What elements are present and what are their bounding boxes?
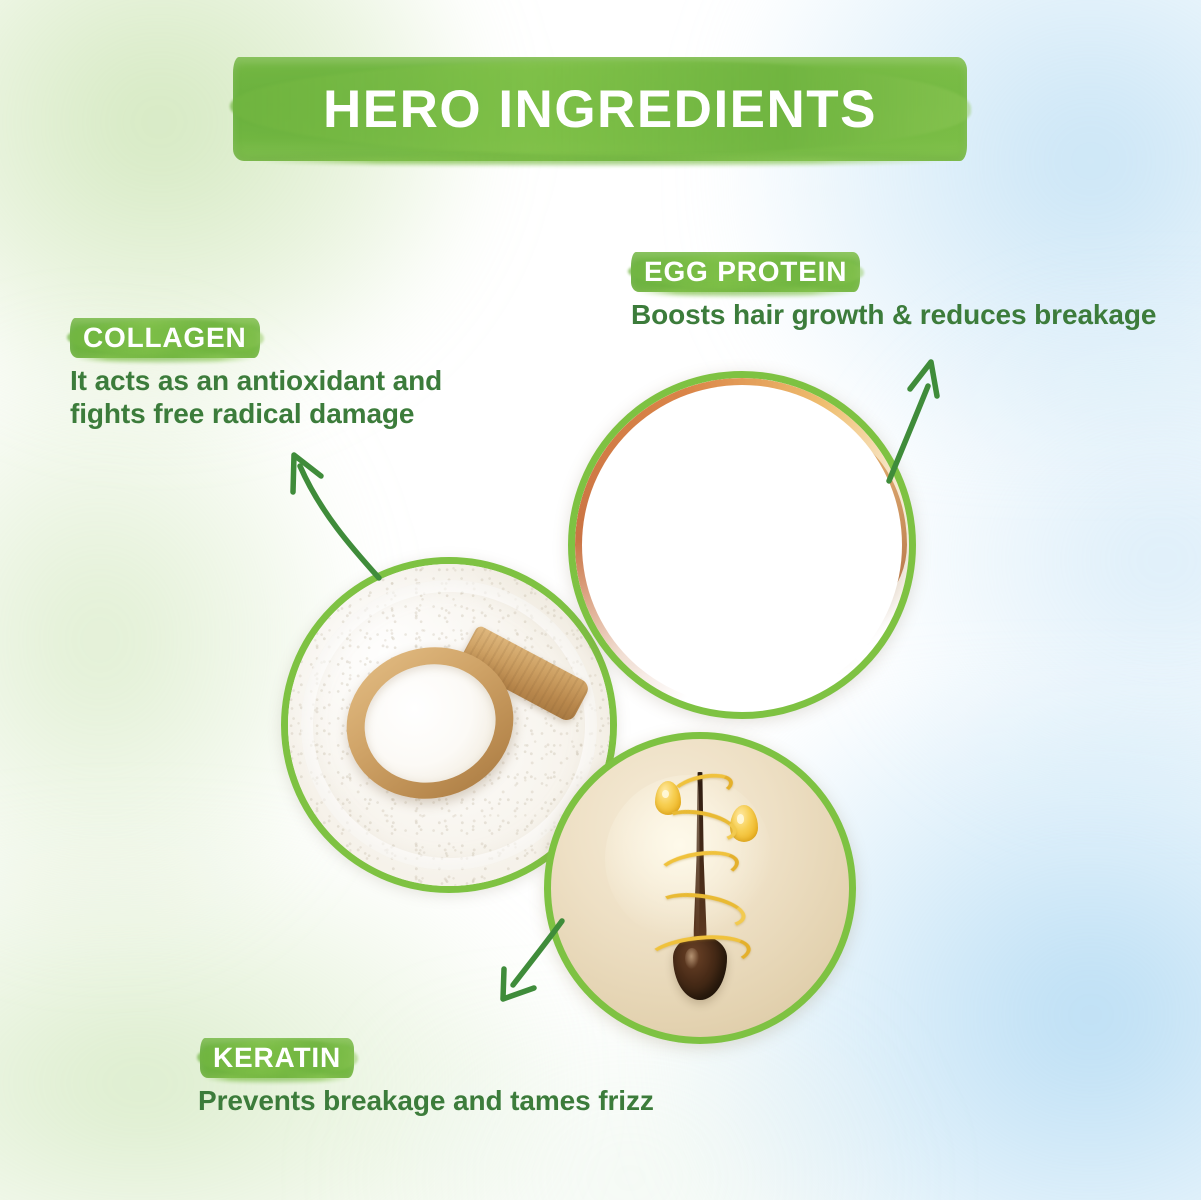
- ingredient-label-banner-keratin: KERATIN: [200, 1038, 354, 1078]
- yolk-highlight: [681, 570, 724, 600]
- page-title: HERO INGREDIENTS: [233, 57, 967, 161]
- ingredient-label-banner-collagen: COLLAGEN: [70, 318, 260, 358]
- page-title-banner: HERO INGREDIENTS: [233, 57, 967, 161]
- ingredient-label-banner-egg-protein: EGG PROTEIN: [631, 252, 860, 292]
- ingredient-block-egg-protein: EGG PROTEIN Boosts hair growth & reduces…: [631, 252, 1191, 332]
- ingredient-label-egg-protein: EGG PROTEIN: [644, 252, 847, 292]
- ingredient-description-keratin: Prevents breakage and tames frizz: [198, 1085, 758, 1118]
- egg-drop-shadow: [625, 653, 859, 675]
- ingredient-block-collagen: COLLAGEN It acts as an antioxidant and f…: [70, 318, 480, 431]
- ingredient-description-collagen: It acts as an antioxidant and fights fre…: [70, 365, 480, 431]
- ingredient-description-egg-protein: Boosts hair growth & reduces breakage: [631, 299, 1191, 332]
- ingredient-block-keratin: KERATIN Prevents breakage and tames friz…: [188, 1038, 758, 1118]
- ingredient-image-keratin: [544, 732, 856, 1044]
- egg-white: [724, 566, 802, 636]
- ingredient-image-egg-protein: [568, 371, 916, 719]
- cracked-egg-shell: [622, 478, 818, 654]
- ingredient-label-collagen: COLLAGEN: [83, 318, 247, 358]
- ingredient-label-keratin: KERATIN: [213, 1038, 341, 1078]
